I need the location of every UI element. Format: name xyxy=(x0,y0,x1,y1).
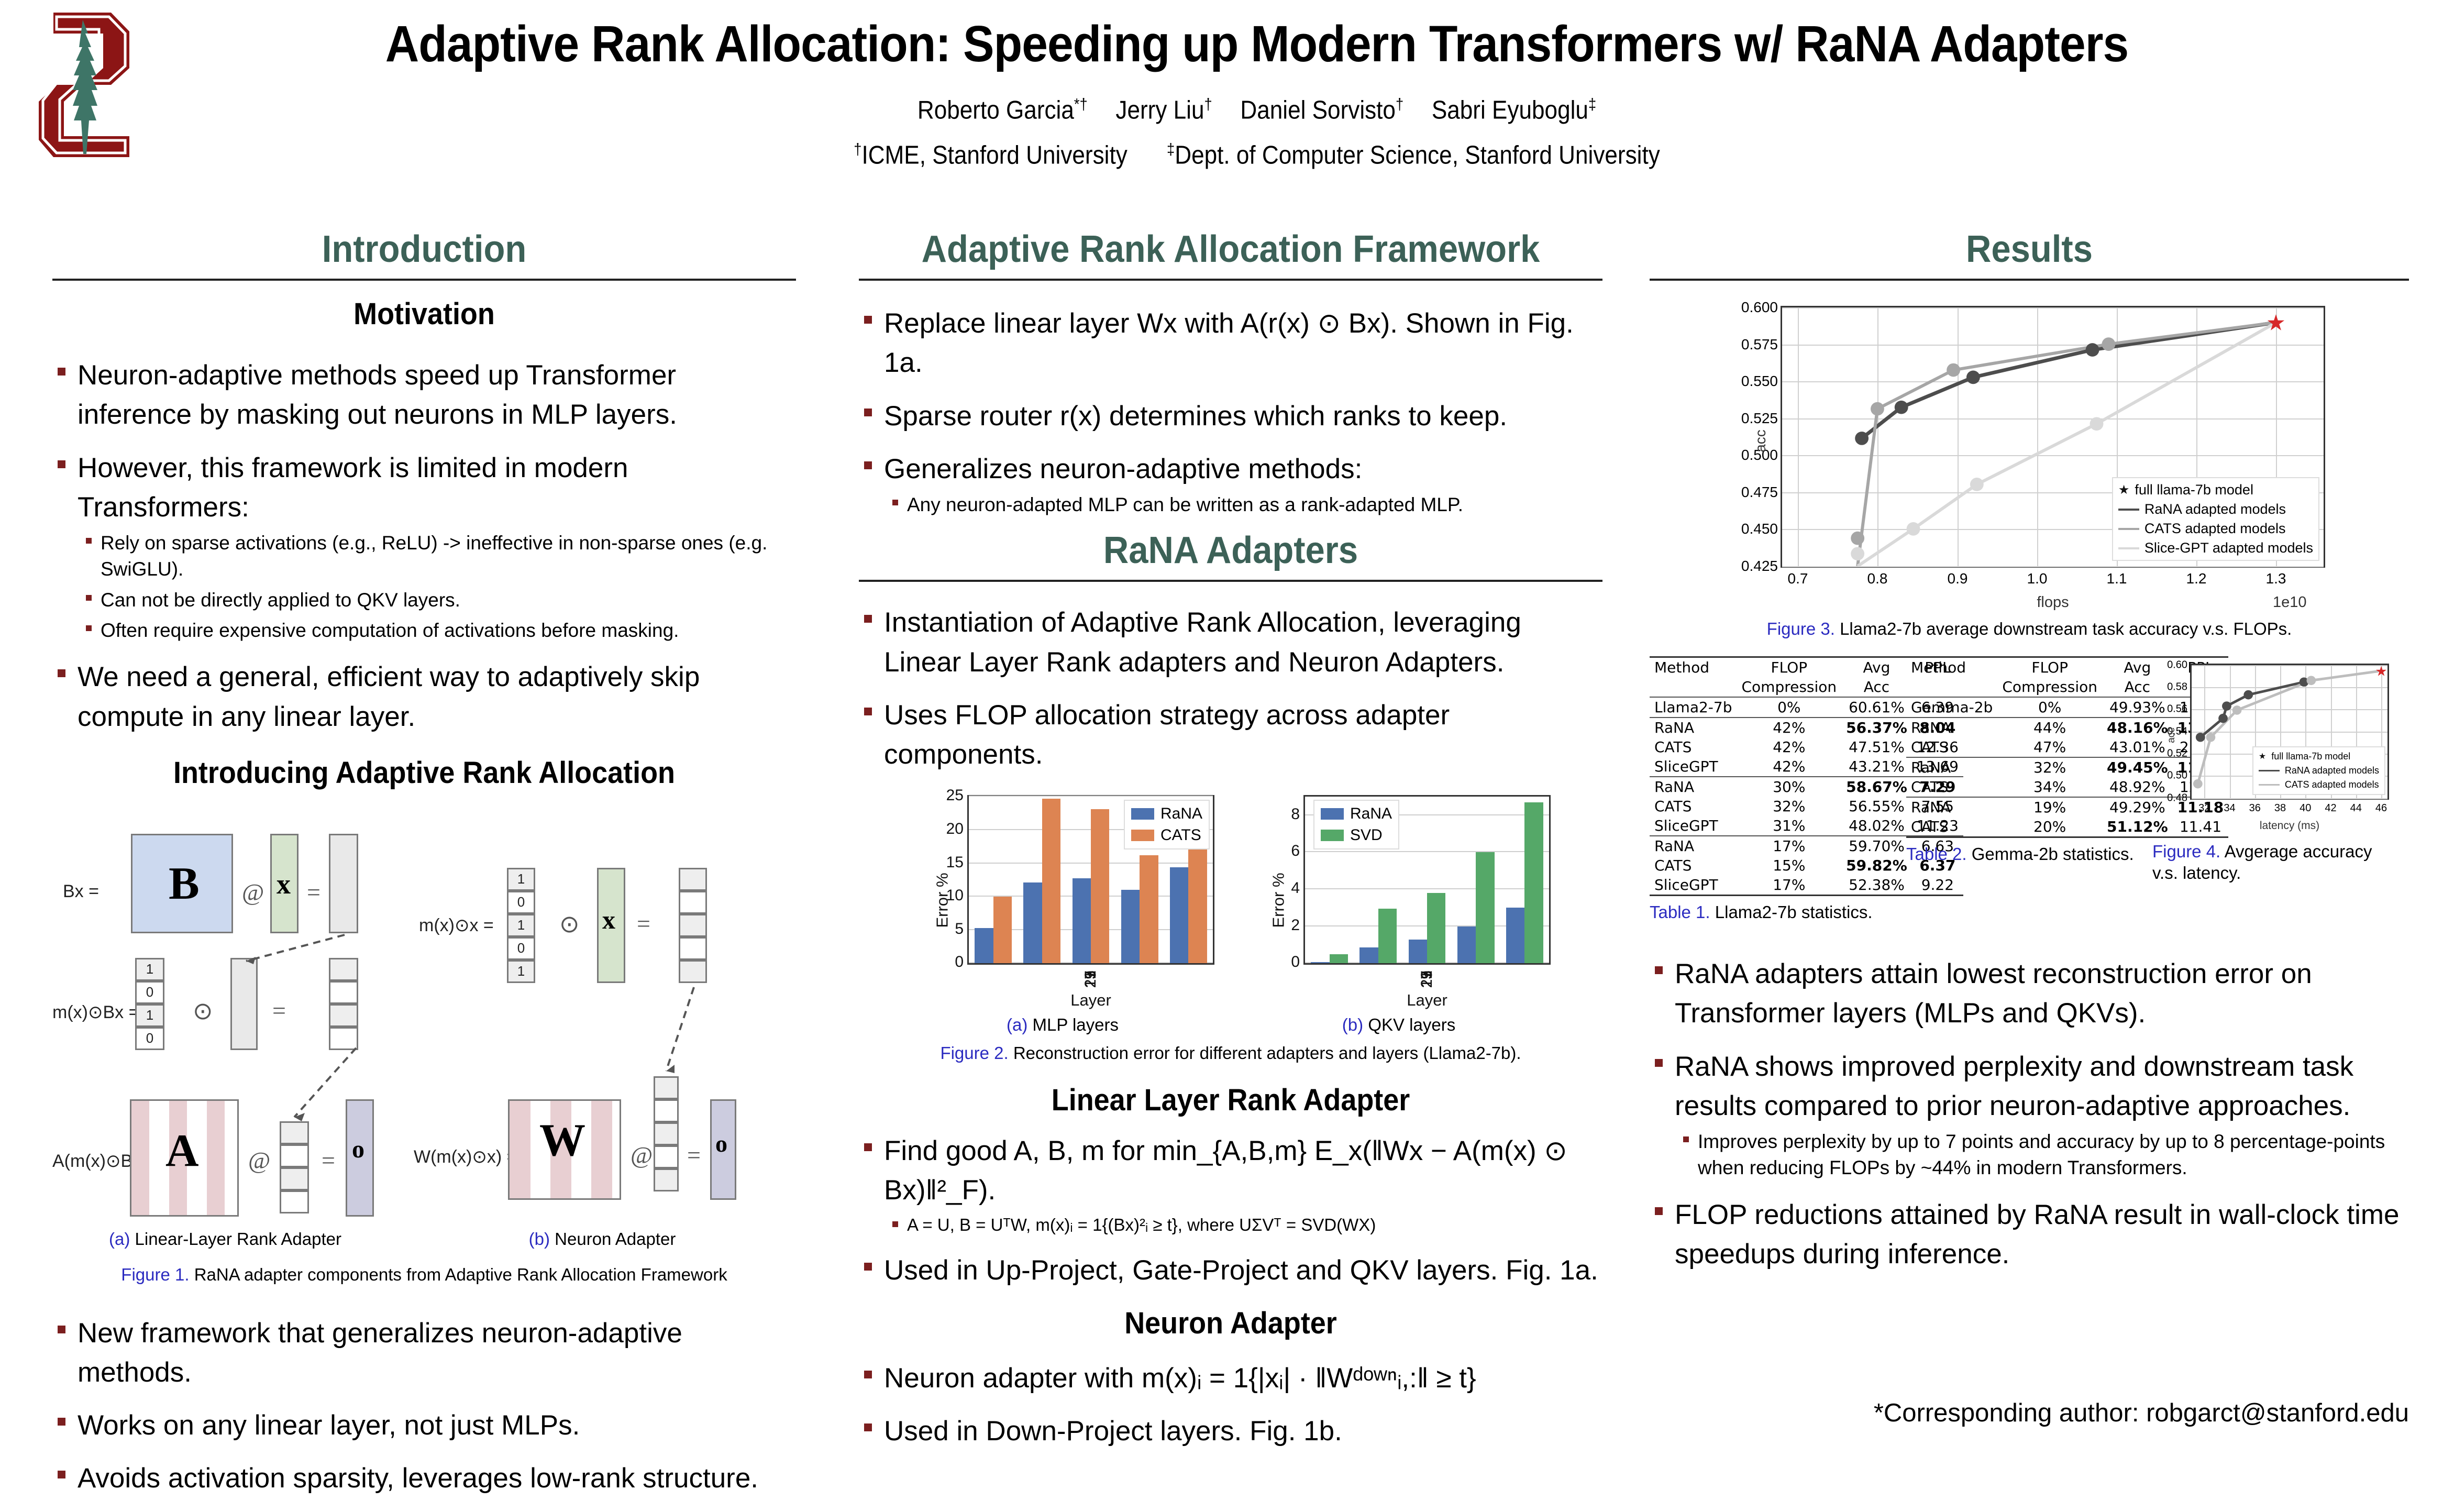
legend-entry: SVD xyxy=(1350,826,1383,844)
cell-method: CATS xyxy=(1906,777,1997,797)
operator-matmul: @ xyxy=(242,878,264,906)
cell-acc: 56.37% xyxy=(1846,719,1907,736)
list-item: New framework that generalizes neuron-ad… xyxy=(52,1314,796,1393)
author-list: Roberto Garcia*† Jerry Liu† Daniel Sorvi… xyxy=(267,95,2247,125)
affiliation-mark: † xyxy=(854,140,861,158)
mask-cell: 0 xyxy=(507,891,535,914)
list-item-label: Generalizes neuron-adaptive methods: xyxy=(884,454,1362,484)
motivation-bullet-list: Neuron-adaptive methods speed up Transfo… xyxy=(52,356,796,736)
eq-label-mbx: m(x)⊙Bx = xyxy=(52,1002,139,1023)
eq-label-mx: m(x)⊙x = xyxy=(419,915,494,936)
cell-flop: 42% xyxy=(1737,757,1841,777)
author-name: Daniel Sorvisto xyxy=(1240,96,1396,124)
cell-flop: 31% xyxy=(1737,816,1841,836)
cell-flop: 17% xyxy=(1737,836,1841,856)
cell-flop: 30% xyxy=(1737,777,1841,797)
list-item: Often require expensive computation of a… xyxy=(78,617,796,644)
figure-caption-text: Llama2-7b average downstream task accura… xyxy=(1840,619,2292,638)
cell-flop: 0% xyxy=(1737,697,1841,718)
chart-fig2b-qkv-layers: Error % 0 2 4 6 8 3 9 15 21 27 RaNA xyxy=(1242,788,1556,1013)
chart-legend: RaNA CATS xyxy=(1124,800,1210,849)
cell-method: RaNA xyxy=(1650,777,1737,797)
figure-1-diagram: Bx = B @ x = m(x)⊙Bx = 1 0 1 0 ⊙ = xyxy=(52,805,796,1276)
masked-cell xyxy=(679,960,707,983)
masked-cell xyxy=(679,868,707,891)
operator-equals: = xyxy=(687,1141,701,1169)
cell-method: SliceGPT xyxy=(1650,875,1737,896)
chart-fig2a-mlp-layers: Error % 5 10 15 20 25 0 3 9 15 21 27 xyxy=(905,788,1220,1013)
results-bullet-list: RaNA adapters attain lowest reconstructi… xyxy=(1650,954,2409,1274)
masked-cell xyxy=(679,914,707,937)
list-item: A = U, B = UᵀW, m(x)ᵢ = 1{(Bx)²ᵢ ≥ t}, w… xyxy=(884,1213,1602,1237)
subheading-motivation: Motivation xyxy=(79,296,770,332)
cell-method: SliceGPT xyxy=(1650,816,1737,836)
figure-4-caption: Figure 4. Avgerage accuracy v.s. latency… xyxy=(2152,841,2398,884)
cell-ppl: 9.22 xyxy=(1912,875,1963,896)
output-vector-label: o xyxy=(715,1130,727,1157)
legend-entry: full llama-7b model xyxy=(2135,482,2253,498)
cell-method: RaNA xyxy=(1906,797,1997,817)
cell-acc: 48.02% xyxy=(1841,816,1912,836)
panel-text: MLP layers xyxy=(1033,1015,1119,1034)
matrix-W-label: W xyxy=(539,1114,585,1167)
list-item: Find good A, B, m for min_{A,B,m} E_x(‖W… xyxy=(859,1131,1602,1237)
list-item: Generalizes neuron-adaptive methods: Any… xyxy=(859,449,1602,518)
column-header: Compression xyxy=(1997,677,2102,697)
operator-matmul: @ xyxy=(248,1146,270,1174)
section-heading-introduction: Introduction xyxy=(79,230,770,268)
section-divider xyxy=(1650,279,2409,281)
chart-legend: ★full llama-7b model RaNA adapted models… xyxy=(2252,746,2385,795)
legend-entry: RaNA xyxy=(1350,805,1392,823)
table-2-caption: Table 2. Gemma-2b statistics. xyxy=(1906,843,2142,865)
masked-cell xyxy=(679,891,707,914)
figure-4-wrapper: 0.60 0.58 0.56 0.54 0.52 0.50 0.48 32 34… xyxy=(2152,656,2398,884)
column-framework: Adaptive Rank Allocation Framework Repla… xyxy=(859,230,1602,1464)
list-item: Used in Up-Project, Gate-Project and QKV… xyxy=(859,1251,1602,1290)
figure1-panel-a-caption: (a) Linear-Layer Rank Adapter xyxy=(84,1229,367,1249)
output-vector-label: o xyxy=(352,1135,364,1164)
table-label: Table 1. xyxy=(1650,902,1710,922)
table-row: SliceGPT17%52.38%9.22 xyxy=(1650,875,1963,896)
full-model-star-marker: ★ xyxy=(2266,310,2286,335)
masked-cell xyxy=(280,1167,309,1190)
column-header: Compression xyxy=(1737,677,1841,697)
masked-cell xyxy=(280,1144,309,1167)
legend-entry: RaNA adapted models xyxy=(2285,765,2379,776)
bx-vector-block xyxy=(230,958,258,1050)
masked-cell xyxy=(280,1190,309,1213)
cell-method: CATS xyxy=(1650,737,1737,757)
chart-legend: RaNA SVD xyxy=(1313,800,1399,849)
cell-method: RaNA xyxy=(1906,757,1997,777)
cell-method: Gemma-2b xyxy=(1906,697,1997,718)
legend-entry: RaNA adapted models xyxy=(2144,501,2286,517)
section-heading-framework: Adaptive Rank Allocation Framework xyxy=(885,230,1577,268)
column-results: Results 0.600 0.575 0.550 0.525 0.500 0.… xyxy=(1650,230,2409,1287)
chart-xlabel: latency (ms) xyxy=(2190,820,2389,832)
column-header: FLOP xyxy=(1997,657,2102,677)
cell-acc: 60.61% xyxy=(1841,697,1912,718)
cell-flop: 0% xyxy=(1997,697,2102,718)
affiliation-text: ICME, Stanford University xyxy=(861,141,1127,169)
operator-equals: = xyxy=(322,1146,335,1174)
chart-plot-area: 0 2 4 6 8 3 9 15 21 27 RaNA SVD xyxy=(1303,795,1551,965)
chart-fig4-acc-vs-latency: 0.60 0.58 0.56 0.54 0.52 0.50 0.48 32 34… xyxy=(2152,656,2398,845)
figure2-panel-a-caption: (a) MLP layers xyxy=(905,1015,1220,1035)
subheading-neuron-adapter: Neuron Adapter xyxy=(885,1306,1577,1341)
mask-cell: 0 xyxy=(135,1027,164,1050)
figure-3-caption: Figure 3. Llama2-7b average downstream t… xyxy=(1650,618,2409,641)
cell-flop: 20% xyxy=(1997,817,2102,837)
rana-bullet-list: Instantiation of Adaptive Rank Allocatio… xyxy=(859,603,1602,774)
cell-acc: 47.51% xyxy=(1841,737,1912,757)
cell-method: Llama2-7b xyxy=(1650,697,1737,718)
corresponding-author-footer: *Corresponding author: robgarct@stanford… xyxy=(1650,1398,2409,1428)
figure-label: Figure 2. xyxy=(940,1043,1008,1063)
operator-equals: = xyxy=(307,878,320,906)
arrow-down-1 xyxy=(230,931,388,967)
author-name: Sabri Eyuboglu xyxy=(1432,96,1588,124)
masked-cell xyxy=(654,1168,679,1191)
column-header: Method xyxy=(1650,657,1737,677)
list-item: Can not be directly applied to QKV layer… xyxy=(78,587,796,613)
subheading-introducing-ara: Introducing Adaptive Rank Allocation xyxy=(79,755,770,790)
chart-fig3-acc-vs-flops: 0.600 0.575 0.550 0.525 0.500 0.475 0.45… xyxy=(1650,291,2409,621)
cell-flop: 32% xyxy=(1997,757,2102,777)
result-vector-block xyxy=(329,834,358,933)
figure-2-caption: Figure 2. Reconstruction error for diffe… xyxy=(859,1042,1602,1065)
mask-cell: 1 xyxy=(507,914,535,937)
cell-method: CATS xyxy=(1650,856,1737,875)
author-marks: *† xyxy=(1074,95,1088,113)
figure1-panel-b-caption: (b) Neuron Adapter xyxy=(461,1229,744,1249)
masked-cell xyxy=(329,1004,358,1027)
masked-cell xyxy=(654,1122,679,1145)
panel-label: (a) xyxy=(109,1229,130,1249)
chart-xlabel: flops xyxy=(1781,594,2325,611)
operator-equals: = xyxy=(272,997,286,1024)
operator-equals: = xyxy=(637,910,650,937)
operator-matmul: @ xyxy=(631,1141,653,1169)
neuron-bullet-list: Neuron adapter with m(x)ᵢ = 1{|xᵢ| · ‖Wᵈ… xyxy=(859,1359,1602,1451)
legend-entry: CATS adapted models xyxy=(2285,779,2379,790)
section-divider xyxy=(859,580,1602,582)
cell-method: CATS xyxy=(1906,737,1997,757)
cell-flop: 15% xyxy=(1737,856,1841,875)
cell-flop: 42% xyxy=(1737,718,1841,737)
list-item: However, this framework is limited in mo… xyxy=(52,448,796,644)
table-2-wrapper: Method FLOP Avg PPL Compression Acc Gemm… xyxy=(1906,656,2142,865)
cell-acc: 43.21% xyxy=(1841,757,1912,777)
results-sub-list: Improves perplexity by up to 7 points an… xyxy=(1675,1129,2409,1182)
matrix-A-label: A xyxy=(165,1124,199,1177)
intro-bottom-bullet-list: New framework that generalizes neuron-ad… xyxy=(52,1314,796,1498)
framework-bullet-list: Replace linear layer Wx with A(r(x) ⊙ Bx… xyxy=(859,304,1602,518)
author-name: Roberto Garcia xyxy=(917,96,1074,124)
masked-cell xyxy=(329,981,358,1004)
cell-flop: 47% xyxy=(1997,737,2102,757)
figure-caption-text: Reconstruction error for different adapt… xyxy=(1013,1043,1521,1063)
legend-entry: CATS xyxy=(1160,826,1201,844)
cell-flop: 34% xyxy=(1997,777,2102,797)
cell-method: SliceGPT xyxy=(1650,757,1737,777)
chart-xlabel: Layer xyxy=(1303,991,1551,1010)
list-item-label: However, this framework is limited in mo… xyxy=(78,453,628,523)
list-item: RaNA adapters attain lowest reconstructi… xyxy=(1650,954,2409,1033)
vector-x-label: x xyxy=(602,904,615,935)
author-marks: † xyxy=(1204,95,1212,113)
section-divider xyxy=(859,279,1602,281)
list-item: Improves perplexity by up to 7 points an… xyxy=(1675,1129,2409,1182)
operator-hadamard: ⊙ xyxy=(559,910,580,938)
list-item: Neuron-adaptive methods speed up Transfo… xyxy=(52,356,796,435)
cell-flop: 19% xyxy=(1997,797,2102,817)
eq-label-bx: Bx = xyxy=(63,881,99,902)
mask-cell: 1 xyxy=(135,958,164,981)
column-header: FLOP xyxy=(1737,657,1841,677)
cell-flop: 17% xyxy=(1737,875,1841,896)
section-heading-rana-adapters: RaNA Adapters xyxy=(885,532,1577,569)
framework-sub-list: Any neuron-adapted MLP can be written as… xyxy=(884,492,1602,518)
legend-entry: CATS adapted models xyxy=(2144,521,2286,537)
cell-acc: 59.70% xyxy=(1841,836,1912,856)
mask-cell: 1 xyxy=(507,868,535,891)
cell-flop: 42% xyxy=(1737,737,1841,757)
cell-method: CATS xyxy=(1906,817,1997,837)
mask-cell: 1 xyxy=(135,1004,164,1027)
panel-label: (b) xyxy=(1342,1015,1363,1034)
author-marks: ‡ xyxy=(1588,95,1596,113)
affiliation-mark: ‡ xyxy=(1167,140,1175,158)
list-item: Used in Down-Project layers. Fig. 1b. xyxy=(859,1411,1602,1451)
table-caption-text: Llama2-7b statistics. xyxy=(1715,902,1873,922)
legend-entry: full llama-7b model xyxy=(2271,751,2350,762)
subheading-linear-layer-rank-adapter: Linear Layer Rank Adapter xyxy=(885,1083,1577,1118)
column-header: Avg xyxy=(1841,657,1912,677)
figure2-panel-b-caption: (b) QKV layers xyxy=(1242,1015,1556,1035)
cell-method: RaNA xyxy=(1650,836,1737,856)
author-name: Jerry Liu xyxy=(1115,96,1204,124)
list-item: RaNA shows improved perplexity and downs… xyxy=(1650,1047,2409,1182)
llra-bullet-list: Find good A, B, m for min_{A,B,m} E_x(‖W… xyxy=(859,1131,1602,1290)
list-item: We need a general, efficient way to adap… xyxy=(52,657,796,736)
masked-cell xyxy=(654,1099,679,1122)
eq-label-wmx: W(m(x)⊙x) = xyxy=(414,1146,517,1167)
vector-x-label: x xyxy=(277,868,291,900)
panel-text: Linear-Layer Rank Adapter xyxy=(135,1229,341,1249)
panel-label: (b) xyxy=(529,1229,550,1249)
chart-ylabel: Error % xyxy=(1269,873,1288,928)
section-heading-results: Results xyxy=(1676,230,2383,268)
cell-method: RaNA xyxy=(1650,718,1737,737)
list-item: Works on any linear layer, not just MLPs… xyxy=(52,1406,796,1445)
table-1-caption: Table 1. Llama2-7b statistics. xyxy=(1650,901,1896,923)
cell-method: RaNA xyxy=(1906,718,1997,737)
masked-cell xyxy=(654,1145,679,1168)
poster-root: Adaptive Rank Allocation: Speeding up Mo… xyxy=(0,0,2443,1469)
chart-plot-area: 5 10 15 20 25 0 3 9 15 21 27 RaNA xyxy=(967,795,1214,965)
operator-hadamard: ⊙ xyxy=(193,997,213,1025)
masked-cell xyxy=(679,937,707,960)
chart-plot-area: 0.600 0.575 0.550 0.525 0.500 0.475 0.45… xyxy=(1781,306,2325,568)
column-header: Method xyxy=(1906,657,1997,677)
cell-flop: 44% xyxy=(1997,718,2102,737)
list-item: Rely on sparse activations (e.g., ReLU) … xyxy=(78,530,796,583)
list-item: Uses FLOP allocation strategy across ada… xyxy=(859,696,1602,775)
motivation-sub-list: Rely on sparse activations (e.g., ReLU) … xyxy=(78,530,796,644)
list-item: FLOP reductions attained by RaNA result … xyxy=(1650,1195,2409,1274)
chart-legend: ★full llama-7b model RaNA adapted models… xyxy=(2112,477,2319,561)
list-item: Sparse router r(x) determines which rank… xyxy=(859,396,1602,436)
results-tables-row: Method FLOP Avg PPL Compression Acc Llam… xyxy=(1650,656,2409,923)
section-divider xyxy=(52,279,796,281)
chart-ylabel: acc xyxy=(1752,429,1769,453)
panel-label: (a) xyxy=(1007,1015,1027,1034)
chart-ylabel: acc xyxy=(2166,727,2177,743)
arrow-down-2 xyxy=(278,1044,408,1128)
table-1-wrapper: Method FLOP Avg PPL Compression Acc Llam… xyxy=(1650,656,1896,923)
list-item: Neuron adapter with m(x)ᵢ = 1{|xᵢ| · ‖Wᵈ… xyxy=(859,1359,1602,1398)
full-model-star-marker: ★ xyxy=(2375,663,2387,679)
panel-text: QKV layers xyxy=(1368,1015,1455,1034)
list-item: Avoids activation sparsity, leverages lo… xyxy=(52,1459,796,1498)
list-item-label: Find good A, B, m for min_{A,B,m} E_x(‖W… xyxy=(884,1135,1567,1206)
legend-entry: RaNA xyxy=(1160,805,1202,823)
chart-plot-area: 0.60 0.58 0.56 0.54 0.52 0.50 0.48 32 34… xyxy=(2190,664,2389,800)
page-title: Adaptive Rank Allocation: Speeding up Mo… xyxy=(245,15,2269,73)
list-item-label: RaNA shows improved perplexity and downs… xyxy=(1675,1051,2353,1121)
mask-cell: 1 xyxy=(507,960,535,983)
affiliation-list: †ICME, Stanford University ‡Dept. of Com… xyxy=(267,140,2247,170)
arrow-down-3 xyxy=(655,983,759,1083)
figure-label: Figure 3. xyxy=(1767,619,1835,638)
cell-acc: 59.82% xyxy=(1846,857,1907,874)
table-label: Table 2. xyxy=(1906,844,1967,864)
list-item: Instantiation of Adaptive Rank Allocatio… xyxy=(859,603,1602,682)
column-header: Acc xyxy=(1841,677,1912,697)
matrix-B-label: B xyxy=(169,857,200,910)
legend-entry: Slice-GPT adapted models xyxy=(2144,540,2313,556)
stanford-logo xyxy=(32,6,148,163)
chart-xlabel: Layer xyxy=(967,991,1214,1010)
list-item: Any neuron-adapted MLP can be written as… xyxy=(884,492,1602,518)
cell-acc: 58.67% xyxy=(1846,778,1907,796)
list-item: Replace linear layer Wx with A(r(x) ⊙ Bx… xyxy=(859,304,1602,383)
affiliation-text: Dept. of Computer Science, Stanford Univ… xyxy=(1175,141,1660,169)
cell-acc: 52.38% xyxy=(1841,875,1912,896)
column-introduction: Introduction Motivation Neuron-adaptive … xyxy=(52,230,796,1512)
chart-x-exponent: 1e10 xyxy=(2273,594,2307,611)
panel-text: Neuron Adapter xyxy=(555,1229,676,1249)
mask-cell: 0 xyxy=(507,937,535,960)
cell-acc: 56.55% xyxy=(1841,797,1912,816)
table-caption-text: Gemma-2b statistics. xyxy=(1972,844,2134,864)
cell-flop: 32% xyxy=(1737,797,1841,816)
mask-cell: 0 xyxy=(135,981,164,1004)
cell-method: CATS xyxy=(1650,797,1737,816)
llra-formula-list: A = U, B = UᵀW, m(x)ᵢ = 1{(Bx)²ᵢ ≥ t}, w… xyxy=(884,1213,1602,1237)
figure-2-charts: Error % 5 10 15 20 25 0 3 9 15 21 27 xyxy=(859,788,1602,1013)
author-marks: † xyxy=(1396,95,1403,113)
